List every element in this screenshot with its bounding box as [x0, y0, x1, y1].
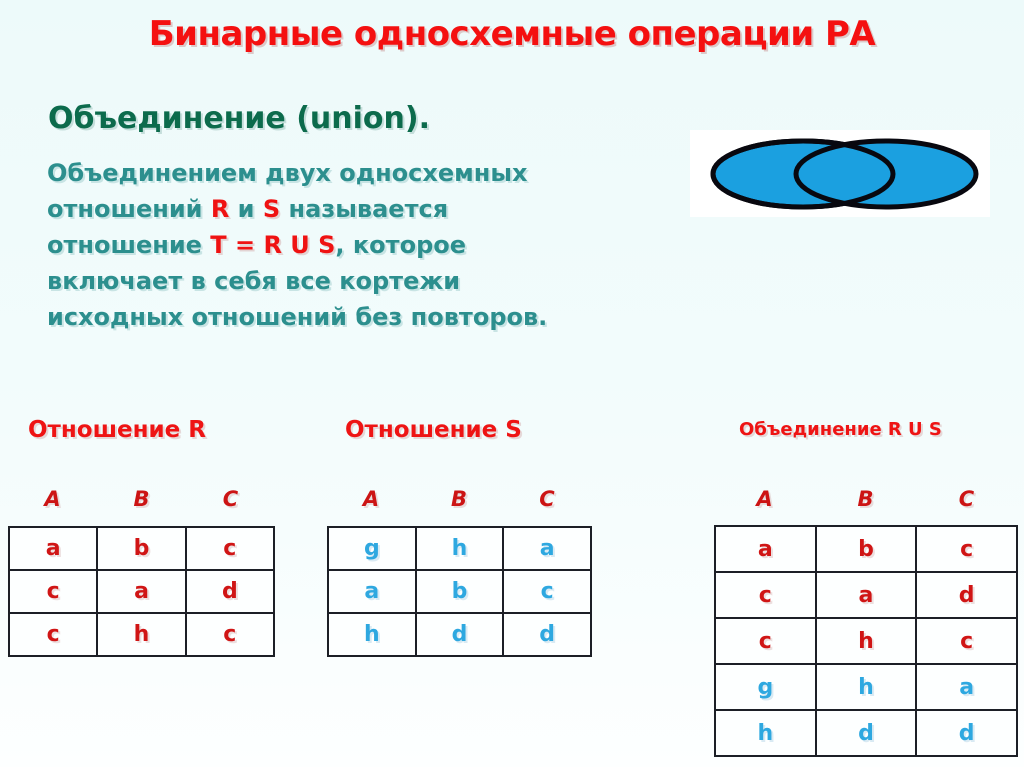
section-heading: Объединение (union).: [48, 101, 430, 136]
table-cell: c: [186, 527, 274, 570]
highlighted-term: R: [211, 195, 229, 223]
table-row: abc: [715, 526, 1017, 572]
paragraph-text: включает в себя все кортежи: [47, 267, 460, 295]
relation-union-column-headers: A B C: [714, 487, 1018, 511]
relation-r-column-headers: A B C: [8, 487, 275, 511]
relation-s-body: ghaabchdd: [328, 527, 591, 656]
table-row: gha: [715, 664, 1017, 710]
paragraph-text: отношение: [47, 231, 210, 259]
table-cell: h: [328, 613, 416, 656]
relation-s-title: Отношение S: [345, 417, 522, 443]
table-cell: d: [916, 572, 1017, 618]
column-header-a: A: [8, 487, 97, 511]
column-header-a: A: [714, 487, 815, 511]
table-cell: c: [715, 572, 816, 618]
table-cell: c: [9, 613, 97, 656]
table-row: hdd: [715, 710, 1017, 756]
slide-canvas: Бинарные односхемные операции РА Объедин…: [0, 0, 1024, 767]
paragraph-text: , которое: [335, 231, 466, 259]
paragraph-line: Объединением двух односхемныхотношений R…: [47, 155, 687, 335]
paragraph-text: называется: [280, 195, 448, 223]
table-cell: b: [416, 570, 504, 613]
venn-svg: [690, 130, 990, 217]
relation-union-body: abccadchcghahdd: [715, 526, 1017, 756]
table-cell: d: [416, 613, 504, 656]
table-cell: a: [97, 570, 185, 613]
table-cell: d: [503, 613, 591, 656]
table-cell: h: [97, 613, 185, 656]
table-cell: b: [97, 527, 185, 570]
paragraph-line: отношение T = R U S, которое: [47, 227, 687, 263]
table-cell: h: [416, 527, 504, 570]
table-cell: h: [816, 664, 917, 710]
relation-r-title: Отношение R: [28, 417, 206, 443]
table-cell: d: [186, 570, 274, 613]
table-cell: a: [715, 526, 816, 572]
table-cell: a: [9, 527, 97, 570]
table-cell: c: [715, 618, 816, 664]
venn-right-ellipse: [796, 141, 976, 207]
page-title: Бинарные односхемные операции РА: [0, 14, 1024, 54]
column-header-c: C: [916, 487, 1017, 511]
relation-r-table: abccadchc: [8, 526, 275, 657]
relation-s-table: ghaabchdd: [327, 526, 592, 657]
paragraph-line: отношений R и S называется: [47, 191, 687, 227]
column-header-b: B: [415, 487, 503, 511]
relation-union-title: Объединение R U S: [739, 419, 942, 440]
paragraph-line: исходных отношений без повторов.: [47, 299, 687, 335]
relation-r-body: abccadchc: [9, 527, 274, 656]
column-header-c: C: [186, 487, 275, 511]
table-cell: c: [916, 526, 1017, 572]
table-cell: h: [816, 618, 917, 664]
table-row: cad: [715, 572, 1017, 618]
highlighted-term: S: [263, 195, 280, 223]
table-row: cad: [9, 570, 274, 613]
column-header-b: B: [97, 487, 186, 511]
table-cell: a: [916, 664, 1017, 710]
table-row: abc: [9, 527, 274, 570]
union-venn-diagram: [690, 130, 990, 217]
paragraph-line: Объединением двух односхемных: [47, 155, 687, 191]
column-header-a: A: [327, 487, 415, 511]
table-cell: g: [715, 664, 816, 710]
paragraph-line: включает в себя все кортежи: [47, 263, 687, 299]
highlighted-term: T = R U S: [210, 231, 335, 259]
table-cell: b: [816, 526, 917, 572]
table-cell: d: [816, 710, 917, 756]
table-cell: g: [328, 527, 416, 570]
table-cell: a: [328, 570, 416, 613]
paragraph-text: отношений: [47, 195, 211, 223]
table-cell: c: [916, 618, 1017, 664]
column-header-b: B: [815, 487, 916, 511]
column-header-c: C: [503, 487, 591, 511]
table-cell: a: [816, 572, 917, 618]
table-cell: c: [186, 613, 274, 656]
table-cell: a: [503, 527, 591, 570]
table-cell: c: [9, 570, 97, 613]
table-row: gha: [328, 527, 591, 570]
table-row: hdd: [328, 613, 591, 656]
table-cell: d: [916, 710, 1017, 756]
definition-paragraph: Объединением двух односхемныхотношений R…: [47, 155, 687, 335]
table-cell: h: [715, 710, 816, 756]
table-cell: c: [503, 570, 591, 613]
table-row: abc: [328, 570, 591, 613]
paragraph-text: Объединением двух односхемных: [47, 159, 528, 187]
table-row: chc: [715, 618, 1017, 664]
table-row: chc: [9, 613, 274, 656]
paragraph-text: исходных отношений без повторов.: [47, 303, 547, 331]
paragraph-text: и: [229, 195, 263, 223]
relation-s-column-headers: A B C: [327, 487, 592, 511]
relation-union-table: abccadchcghahdd: [714, 525, 1018, 757]
